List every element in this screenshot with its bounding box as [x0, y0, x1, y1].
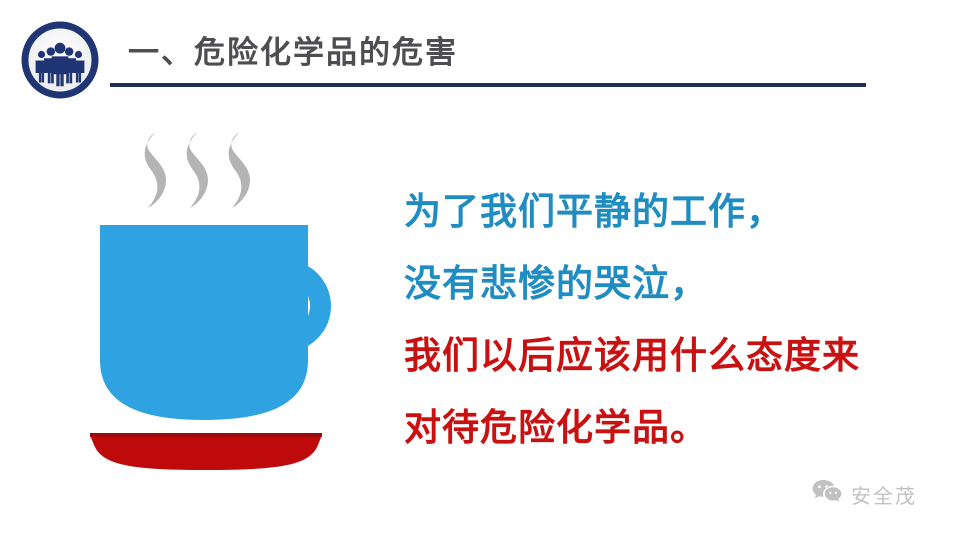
- header-divider-rule: [110, 83, 866, 87]
- quote-line-3: 我们以后应该用什么态度来: [404, 320, 934, 392]
- slide-canvas: 一、危险化学品的危害 为了我们平静的工作， 没有悲惨的哭泣， 我们以后应该用什么…: [0, 0, 960, 540]
- quote-line-4: 对待危险化学品。: [404, 392, 934, 464]
- wechat-icon: [812, 479, 842, 510]
- steaming-coffee-mug-illustration: [80, 120, 380, 475]
- group-of-people-icon-svg: [21, 21, 99, 99]
- quote-line-2: 没有悲惨的哭泣，: [404, 248, 934, 320]
- mug-body: [100, 225, 308, 420]
- quote-line-1: 为了我们平静的工作，: [404, 176, 934, 248]
- watermark-label: 安全茂: [851, 480, 917, 509]
- steam-icon: [145, 132, 250, 208]
- group-of-people-icon: [21, 21, 99, 99]
- page-title: 一、危险化学品的危害: [128, 33, 458, 73]
- wechat-watermark: 安全茂: [812, 473, 948, 515]
- quote-text-block: 为了我们平静的工作， 没有悲惨的哭泣， 我们以后应该用什么态度来 对待危险化学品…: [404, 176, 934, 464]
- slide-header: 一、危险化学品的危害: [0, 0, 960, 110]
- saucer-rim: [90, 433, 322, 437]
- coffee-mug-svg: [80, 120, 380, 475]
- mug-saucer: [90, 435, 322, 470]
- wechat-icon-svg: [812, 479, 842, 505]
